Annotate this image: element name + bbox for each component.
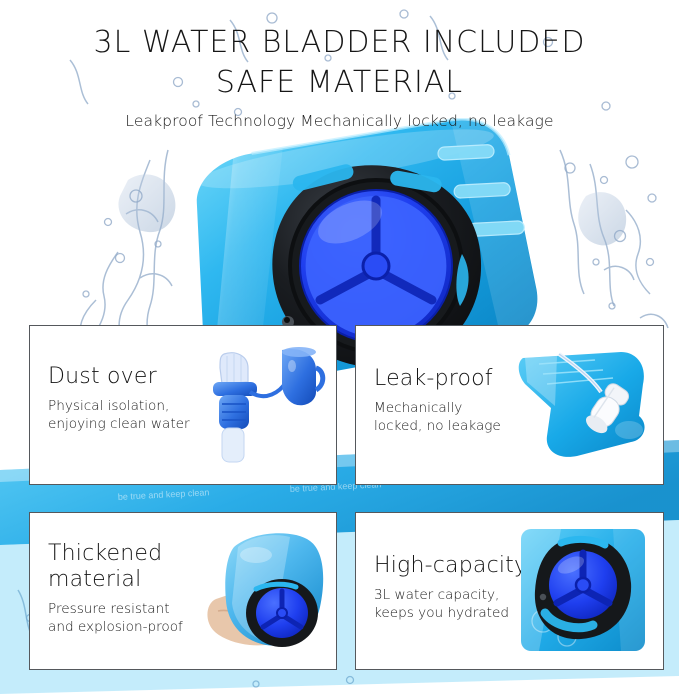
card-description: Physical isolation, enjoying clean water bbox=[48, 397, 232, 433]
card-description: Mechanically locked, no leakage bbox=[374, 399, 558, 435]
card-title: Leak-proof bbox=[374, 366, 558, 392]
feature-card-leak-proof: Leak-proof Mechanically locked, no leaka… bbox=[355, 325, 664, 485]
card-title: High-capacity bbox=[374, 553, 558, 579]
card-text-block: Dust over Physical isolation, enjoying c… bbox=[48, 364, 232, 433]
feature-card-thickened-material: Thickened material Pressure resistant an… bbox=[29, 512, 337, 670]
title-line-2: SAFE MATERIAL bbox=[0, 64, 679, 102]
card-text-block: Leak-proof Mechanically locked, no leaka… bbox=[374, 366, 558, 435]
card-description: Pressure resistant and explosion-proof bbox=[48, 600, 232, 636]
card-text-block: Thickened material Pressure resistant an… bbox=[48, 541, 232, 636]
heading-block: 3L WATER BLADDER INCLUDED SAFE MATERIAL … bbox=[0, 0, 679, 130]
title-line-1: 3L WATER BLADDER INCLUDED bbox=[0, 24, 679, 62]
product-graphic-stage: be true and keep clean be true and keep … bbox=[0, 0, 679, 695]
feature-card-dust-over: Dust over Physical isolation, enjoying c… bbox=[29, 325, 337, 485]
bladder-cap bbox=[549, 551, 617, 619]
card-title: Dust over bbox=[48, 364, 232, 390]
bladder-shape bbox=[225, 533, 323, 645]
card-description: 3L water capacity, keeps you hydrated bbox=[374, 586, 558, 622]
card-text-block: High-capacity 3L water capacity, keeps y… bbox=[374, 553, 558, 622]
feature-card-high-capacity: High-capacity 3L water capacity, keeps y… bbox=[355, 512, 664, 670]
card-title: Thickened material bbox=[48, 541, 232, 593]
subtitle: Leakproof Technology Mechanically locked… bbox=[0, 112, 679, 130]
